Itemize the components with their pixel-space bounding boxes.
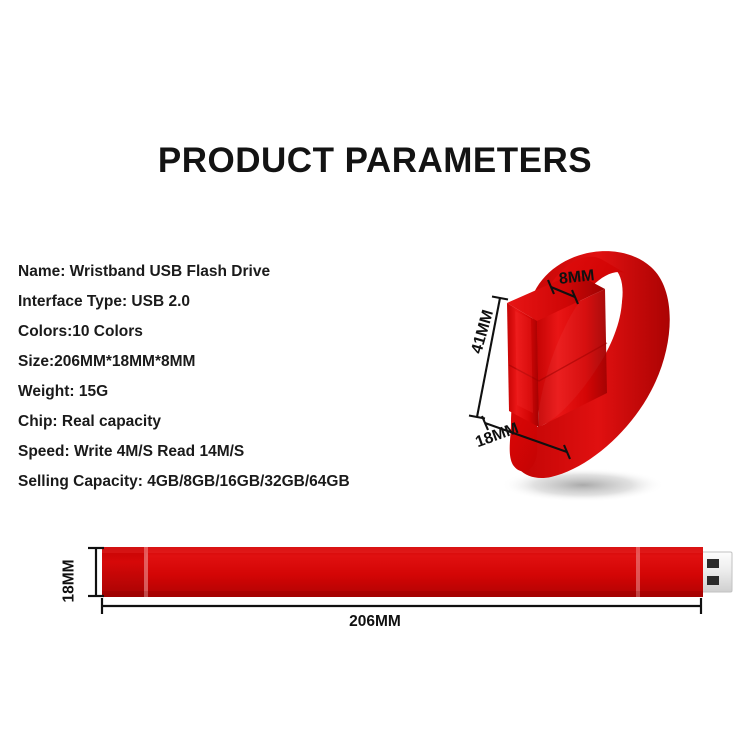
- spec-row-interface-type: Interface Type: USB 2.0: [18, 287, 438, 317]
- strap-clasp-segment: [102, 547, 146, 597]
- strap-body: [102, 547, 703, 597]
- strap-top-highlight: [102, 547, 703, 553]
- spec-row-chip: Chip: Real capacity: [18, 407, 438, 437]
- dimension-line-18mm-flat: [88, 548, 104, 596]
- spec-row-speed: Speed: Write 4M/S Read 14M/S: [18, 437, 438, 467]
- dimension-label-18mm-flat: 18MM: [61, 559, 79, 602]
- usb-contact-lower: [707, 576, 719, 585]
- spec-row-selling-capacity: Selling Capacity: 4GB/8GB/16GB/32GB/64GB: [18, 467, 438, 497]
- strap-clasp-seam: [144, 547, 148, 597]
- usb-connector: [700, 552, 732, 592]
- strap-bottom-shade: [102, 591, 703, 597]
- product-spec-list: Name: Wristband USB Flash Drive Interfac…: [18, 257, 438, 497]
- bracelet-product-image: 41MM 8MM 18MM: [455, 215, 700, 510]
- bracelet-illustration: [455, 215, 700, 510]
- spec-row-size: Size:206MM*18MM*8MM: [18, 347, 438, 377]
- dimension-line-206mm: [102, 598, 701, 614]
- bracelet-clasp-highlight: [515, 311, 533, 413]
- usb-contact-upper: [707, 559, 719, 568]
- spec-row-name: Name: Wristband USB Flash Drive: [18, 257, 438, 287]
- spec-row-weight: Weight: 15G: [18, 377, 438, 407]
- dimension-label-206mm: 206MM: [0, 613, 750, 631]
- spec-row-colors: Colors:10 Colors: [18, 317, 438, 347]
- dimension-label-8mm: 8MM: [558, 267, 595, 289]
- flat-strap-figure: 18MM 206MM: [0, 525, 750, 640]
- strap-usb-cover-seam: [636, 547, 640, 597]
- page-title: PRODUCT PARAMETERS: [0, 141, 750, 181]
